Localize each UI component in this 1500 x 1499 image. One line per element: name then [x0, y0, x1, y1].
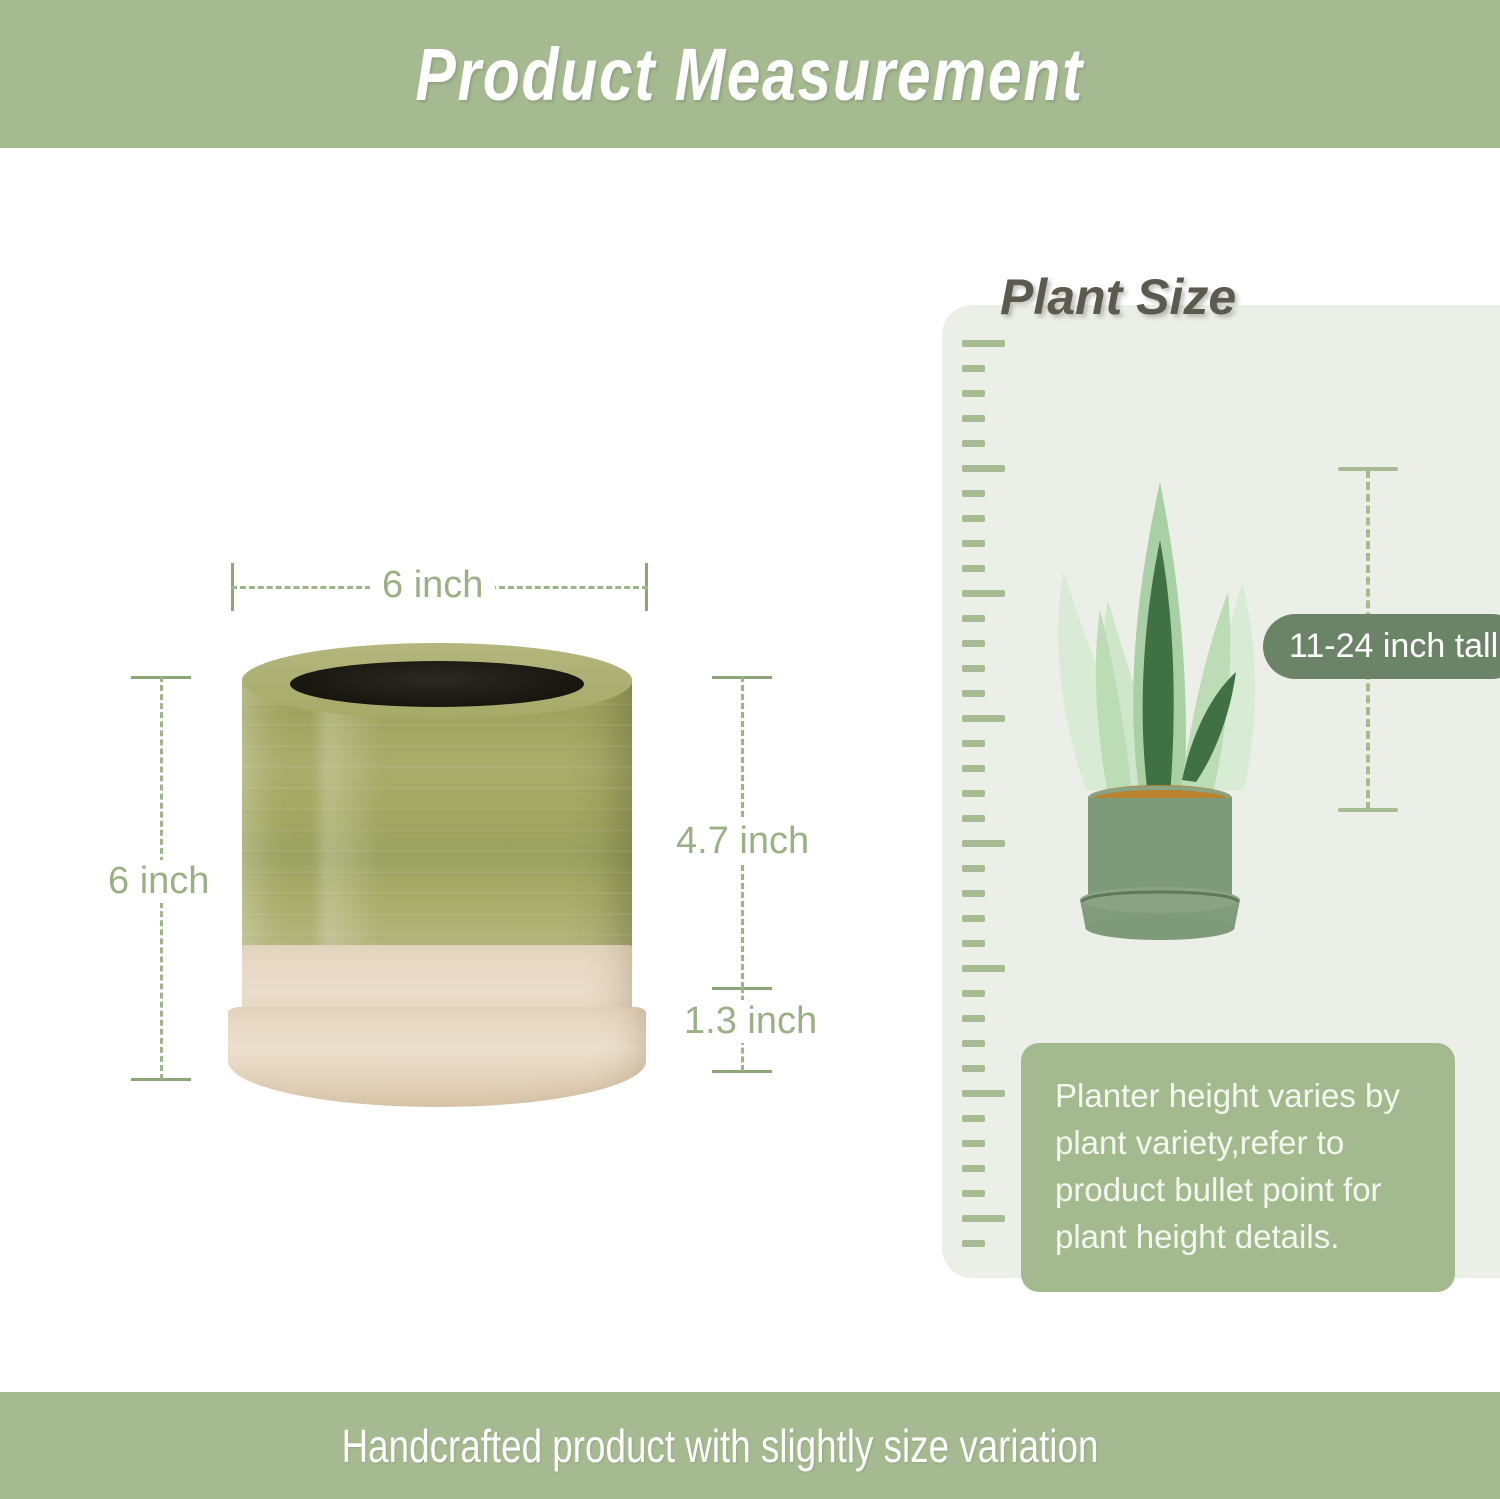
saucer-height-dim-label: 1.3 inch: [672, 1000, 829, 1043]
ruler-tick: [962, 1065, 985, 1072]
ruler-tick: [962, 915, 985, 922]
width-dim-label: 6 inch: [370, 564, 495, 607]
ruler-scale: [962, 340, 1022, 1245]
ruler-tick: [962, 1040, 985, 1047]
ruler-tick: [962, 1090, 1005, 1097]
ruler-tick: [962, 690, 985, 697]
ruler-tick: [962, 565, 985, 572]
snake-plant-illustration: [1030, 460, 1290, 970]
ruler-tick: [962, 765, 985, 772]
ruler-tick: [962, 1140, 985, 1147]
plant-size-title: Plant Size: [1000, 268, 1236, 326]
ruler-tick: [962, 1165, 985, 1172]
ruler-tick: [962, 1240, 985, 1247]
ruler-tick: [962, 865, 985, 872]
ruler-tick: [962, 815, 985, 822]
ruler-tick: [962, 365, 985, 372]
plant-height-badge: 11-24 inch tall: [1263, 614, 1500, 679]
footer-band: Handcrafted product with slightly size v…: [0, 1392, 1500, 1499]
ruler-tick: [962, 465, 1005, 472]
ruler-tick: [962, 790, 985, 797]
plant-height-note: Planter height varies by plant variety,r…: [1021, 1043, 1455, 1292]
ruler-tick: [962, 340, 1005, 347]
ruler-tick: [962, 665, 985, 672]
ruler-tick: [962, 515, 985, 522]
pot-soil-opening: [290, 661, 584, 707]
ruler-tick: [962, 1115, 985, 1122]
ruler-tick: [962, 415, 985, 422]
pot-height-dim-label: 4.7 inch: [664, 820, 821, 863]
ruler-tick: [962, 440, 985, 447]
product-photo-ceramic-planter: [228, 645, 646, 1095]
pot-saucer: [228, 1007, 646, 1107]
ruler-tick: [962, 840, 1005, 847]
ruler-tick: [962, 990, 985, 997]
ruler-tick: [962, 540, 985, 547]
ruler-tick: [962, 890, 985, 897]
ruler-tick: [962, 740, 985, 747]
ruler-tick: [962, 940, 985, 947]
ruler-tick: [962, 640, 985, 647]
ruler-tick: [962, 590, 1005, 597]
ruler-tick: [962, 490, 985, 497]
header-band: Product Measurement: [0, 0, 1500, 148]
ruler-tick: [962, 1015, 985, 1022]
footer-text: Handcrafted product with slightly size v…: [342, 1419, 1099, 1473]
page-title: Product Measurement: [416, 32, 1084, 117]
ruler-tick: [962, 1215, 1005, 1222]
ruler-tick: [962, 390, 985, 397]
ruler-tick: [962, 715, 1005, 722]
ruler-tick: [962, 1190, 985, 1197]
height-dim-label: 6 inch: [96, 860, 221, 903]
ruler-tick: [962, 965, 1005, 972]
plant-height-dim-cap-bottom: [1338, 808, 1398, 812]
ruler-tick: [962, 615, 985, 622]
